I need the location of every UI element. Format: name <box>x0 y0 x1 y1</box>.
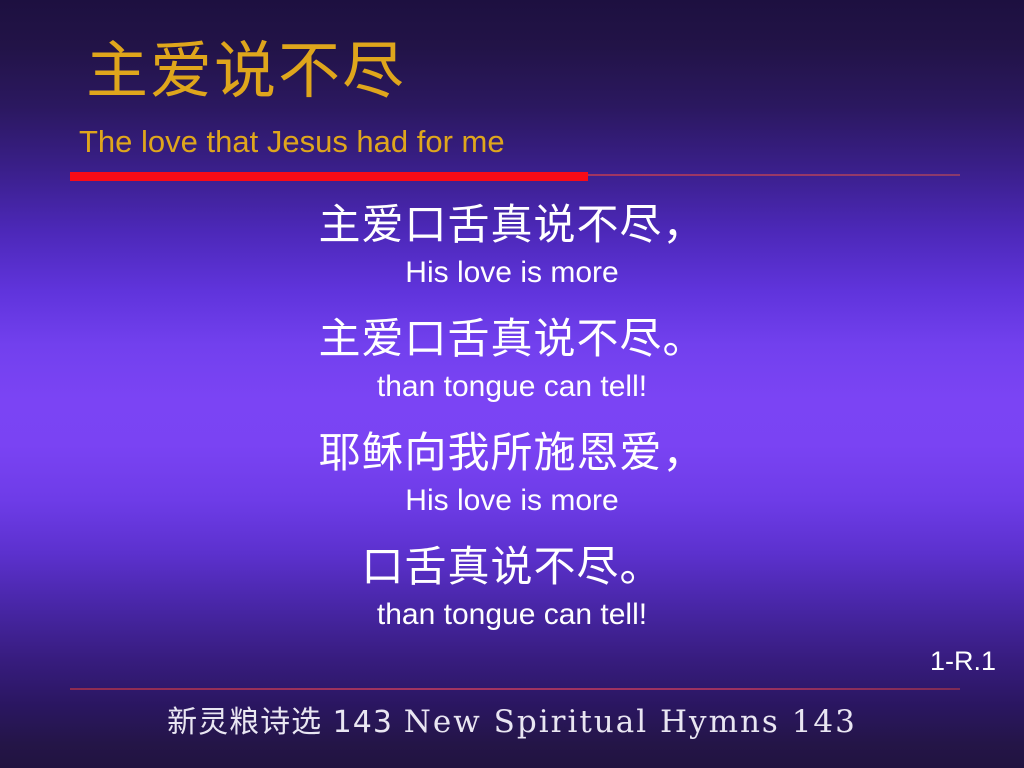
verse-line-english: His love is more <box>0 482 1024 520</box>
verse-line-english: than tongue can tell! <box>0 596 1024 634</box>
verse-body: 主爱口舌真说不尽， His love is more 主爱口舌真说不尽。 tha… <box>0 196 1024 634</box>
footer-divider-line <box>70 688 960 690</box>
presentation-slide: 主爱说不尽 The love that Jesus had for me 主爱口… <box>0 0 1024 768</box>
verse-line-chinese: 主爱口舌真说不尽， <box>0 196 1024 254</box>
header-divider-red-bar <box>70 172 588 181</box>
footer-hymnal-english: New Spiritual Hymns 143 <box>404 704 857 740</box>
verse-line-chinese: 耶稣向我所施恩爱， <box>0 424 1024 482</box>
slide-title-chinese: 主爱说不尽 <box>86 34 406 108</box>
verse-line-group: 主爱口舌真说不尽。 than tongue can tell! <box>0 310 1024 406</box>
verse-line-group: 耶稣向我所施恩爱， His love is more <box>0 424 1024 520</box>
verse-line-english: than tongue can tell! <box>0 368 1024 406</box>
stanza-page-marker: 1-R.1 <box>930 645 996 677</box>
slide-subtitle-english: The love that Jesus had for me <box>79 124 505 160</box>
verse-line-chinese: 口舌真说不尽。 <box>0 538 1024 596</box>
verse-line-group: 主爱口舌真说不尽， His love is more <box>0 196 1024 292</box>
footer-hymnal-chinese: 新灵粮诗选 143 <box>167 705 393 740</box>
verse-line-chinese: 主爱口舌真说不尽。 <box>0 310 1024 368</box>
verse-line-group: 口舌真说不尽。 than tongue can tell! <box>0 538 1024 634</box>
verse-line-english: His love is more <box>0 254 1024 292</box>
footer-hymnal-reference: 新灵粮诗选 143 New Spiritual Hymns 143 <box>0 701 1024 744</box>
